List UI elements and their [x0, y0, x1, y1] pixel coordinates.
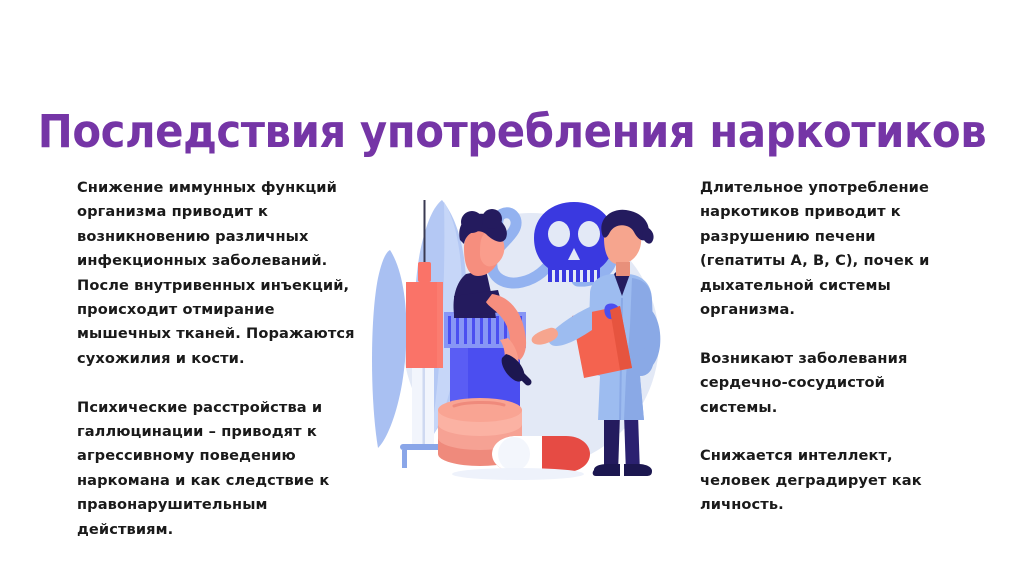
- left-paragraph-1: Снижение иммунных функций организма прив…: [77, 176, 369, 371]
- ground-shadow-icon: [452, 468, 584, 480]
- left-paragraph-2: Психические расстройства и галлюцинации …: [77, 396, 369, 542]
- leaf-shape-small-icon: [372, 250, 406, 448]
- slide-root: Последствия употребления наркотиков Сниж…: [0, 0, 1024, 576]
- right-paragraph-3: Снижается интеллект, человек деградирует…: [700, 444, 962, 517]
- capsule-icon: [492, 436, 590, 472]
- right-paragraph-2: Возникают заболевания сердечно-сосудисто…: [700, 347, 962, 420]
- left-text-column: Снижение иммунных функций организма прив…: [77, 176, 369, 542]
- page-title: Последствия употребления наркотиков: [36, 106, 988, 158]
- drug-abuse-illustration: [368, 186, 672, 486]
- right-paragraph-1: Длительное употребление наркотиков приво…: [700, 176, 962, 322]
- right-text-column: Длительное употребление наркотиков приво…: [700, 176, 962, 518]
